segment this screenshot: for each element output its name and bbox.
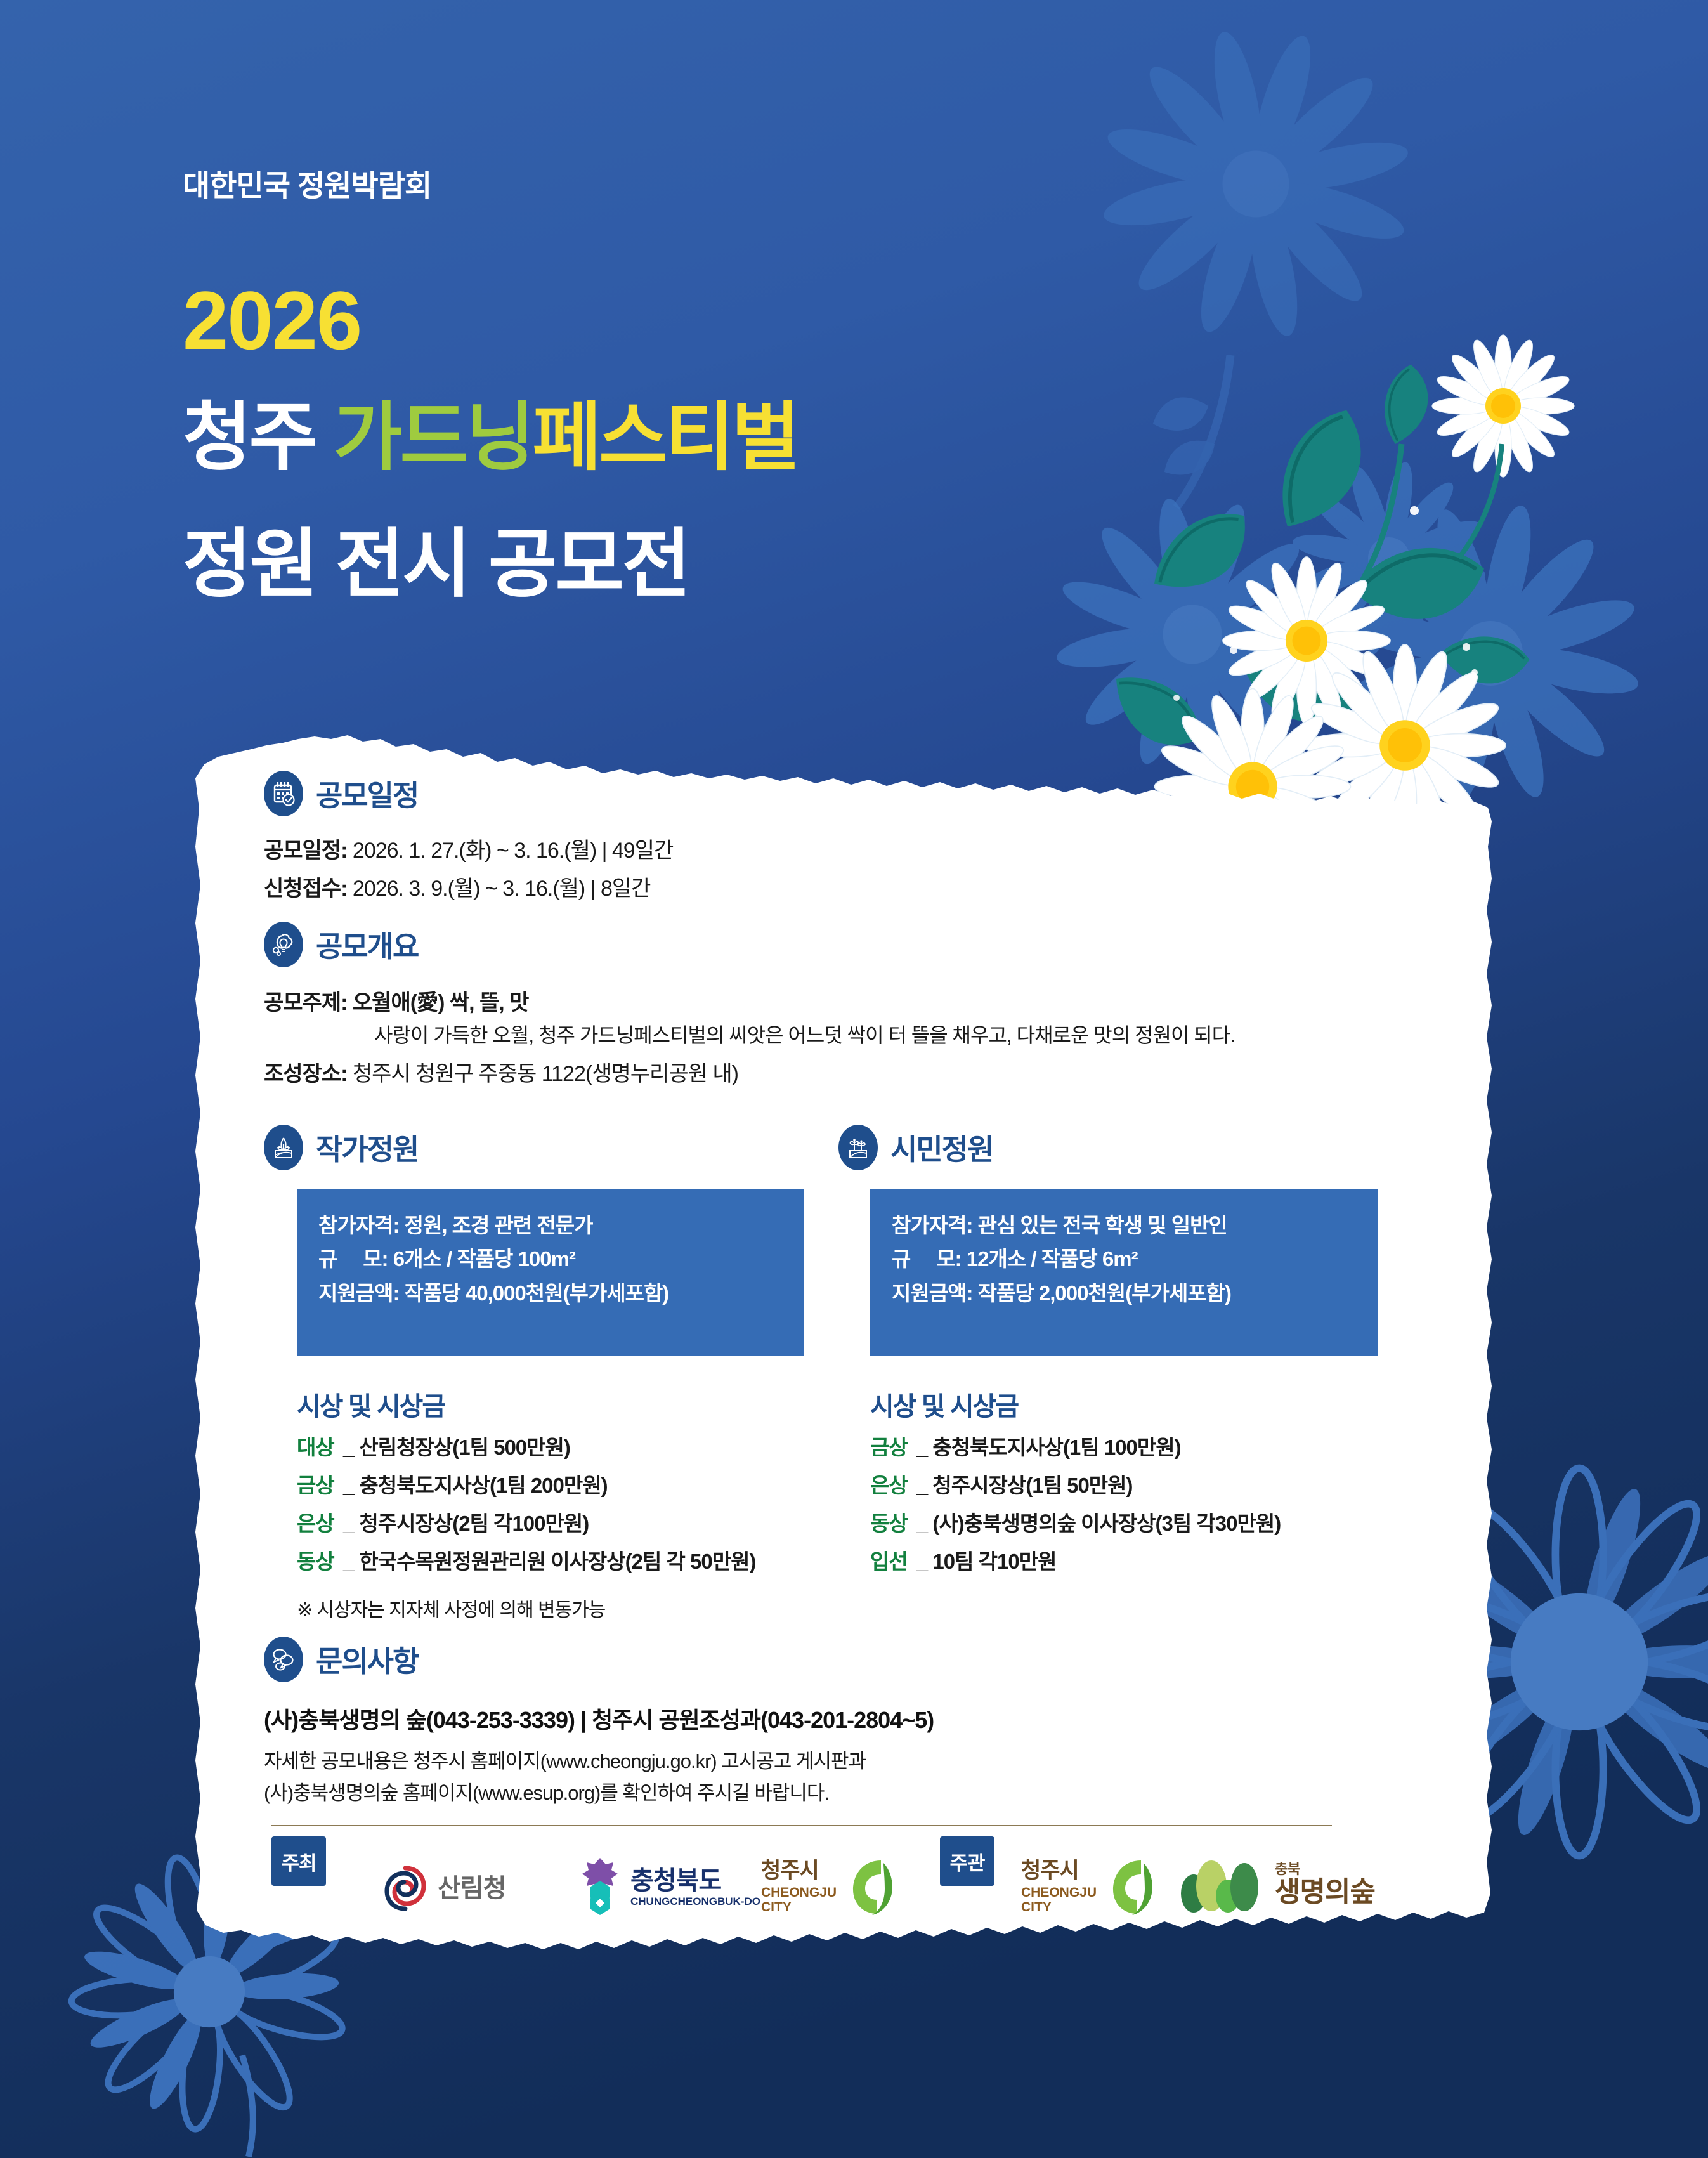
- section-inquiry-header: 문의사항: [264, 1637, 418, 1682]
- logo-chungbuk-life-forest: 충북 생명의숲: [1180, 1857, 1375, 1913]
- overview-place-value: 청주시 청원구 주중동 1122(생명누리공원 내): [353, 1062, 738, 1086]
- citizen-info-row-2: 지원금액: 작품당 2,000천원(부가세포함): [892, 1276, 1356, 1310]
- artist-award-3: 동상 _ 한국수목원정원관리원 이사장상(2팀 각 50만원): [297, 1545, 755, 1575]
- artist-info-row-2-label: 지원금액:: [318, 1276, 399, 1310]
- citizen-award-1-rank: 은상: [870, 1474, 908, 1497]
- section-schedule-title: 공모일정: [316, 773, 418, 814]
- logo-forest-service: 산림청: [381, 1862, 505, 1915]
- citizen-award-2-rank: 동상: [870, 1512, 908, 1535]
- artist-info-row-2-value: 작품당 40,000천원(부가세포함): [405, 1281, 669, 1305]
- citizen-info-row-0-label: 참가자격:: [892, 1208, 972, 1242]
- artist-info-row-0-value: 정원, 조경 관련 전문가: [405, 1213, 593, 1237]
- two-sprouts-icon: [838, 1125, 878, 1170]
- logo-cheongju-city-organizer: 청주시 CHEONGJUCITY: [1021, 1855, 1159, 1919]
- artist-award-2-rank: 은상: [297, 1512, 334, 1535]
- logo-chungcheongbuk-do: 충청북도 CHUNGCHEONGBUK-DO: [577, 1855, 760, 1919]
- artist-info-row-1-label: 규 모:: [318, 1242, 388, 1276]
- organizer-tag: 주관: [940, 1836, 994, 1886]
- cheongju-city-organizer-label: 청주시 CHEONGJUCITY: [1021, 1860, 1097, 1914]
- artist-award-3-text: _ 한국수목원정원관리원 이사장상(2팀 각 50만원): [343, 1550, 756, 1573]
- artist-info-row-1-value: 6개소 / 작품당 100m²: [393, 1247, 575, 1271]
- overview-theme-value: 오월애(愛) 싹, 뜰, 맛: [353, 991, 529, 1015]
- forest-service-emblem-icon: [381, 1862, 430, 1915]
- inquiry-note-line-1: 자세한 공모내용은 청주시 홈페이지(www.cheongju.go.kr) 고…: [264, 1746, 866, 1777]
- citizen-award-3-rank: 입선: [870, 1550, 908, 1573]
- schedule-row-0: 공모일정: 2026. 1. 27.(화) ~ 3. 16.(월) | 49일간: [264, 833, 673, 864]
- artist-award-1-rank: 금상: [297, 1474, 334, 1497]
- title-city: 청주: [183, 396, 334, 480]
- citizen-info-row-0: 참가자격: 관심 있는 전국 학생 및 일반인: [892, 1208, 1356, 1242]
- citizen-info-row-1-label: 규 모:: [892, 1242, 962, 1276]
- citizen-info-row-2-value: 작품당 2,000천원(부가세포함): [978, 1281, 1231, 1305]
- chungcheongbuk-do-label: 충청북도 CHUNGCHEONGBUK-DO: [630, 1867, 760, 1907]
- schedule-row-0-label: 공모일정:: [264, 839, 347, 863]
- artist-award-2: 은상 _ 청주시장상(2팀 각100만원): [297, 1507, 589, 1537]
- schedule-row-0-value: 2026. 1. 27.(화) ~ 3. 16.(월) | 49일간: [353, 839, 673, 863]
- citizen-award-0-text: _ 충청북도지사상(1팀 100만원): [916, 1435, 1181, 1459]
- citizen-award-1: 은상 _ 청주시장상(1팀 50만원): [870, 1468, 1133, 1499]
- inquiry-contacts: (사)충북생명의 숲(043-253-3339) | 청주시 공원조성과(043…: [264, 1702, 934, 1735]
- section-artist-garden-header: 작가정원: [264, 1125, 418, 1170]
- section-citizen-garden-title: 시민정원: [890, 1127, 993, 1168]
- citizen-award-0-rank: 금상: [870, 1435, 908, 1459]
- schedule-row-1-label: 신청접수:: [264, 877, 347, 901]
- artist-award-2-text: _ 청주시장상(2팀 각100만원): [343, 1512, 589, 1535]
- artist-award-1: 금상 _ 충청북도지사상(1팀 200만원): [297, 1468, 608, 1499]
- overview-theme: 공모주제: 오월애(愛) 싹, 뜰, 맛: [264, 985, 528, 1016]
- section-artist-garden-title: 작가정원: [316, 1127, 418, 1168]
- artist-award-1-text: _ 충청북도지사상(1팀 200만원): [343, 1474, 608, 1497]
- section-citizen-garden-header: 시민정원: [838, 1125, 993, 1170]
- citizen-info-row-0-value: 관심 있는 전국 학생 및 일반인: [978, 1213, 1227, 1237]
- subtitle-competition: 정원 전시 공모전: [183, 526, 689, 603]
- section-inquiry-title: 문의사항: [316, 1638, 418, 1680]
- citizen-award-3-text: _ 10팀 각10만원: [916, 1550, 1057, 1573]
- page-kicker: 대한민국 정원박람회: [183, 161, 431, 205]
- schedule-row-1-value: 2026. 3. 9.(월) ~ 3. 16.(월) | 8일간: [353, 877, 651, 901]
- cheongju-city-host-label: 청주시 CHEONGJUCITY: [761, 1860, 837, 1914]
- citizen-awards-title: 시상 및 시상금: [870, 1385, 1018, 1423]
- artist-award-0-text: _ 산림청장상(1팀 500만원): [343, 1435, 570, 1459]
- artist-info-row-2: 지원금액: 작품당 40,000천원(부가세포함): [318, 1276, 783, 1310]
- artist-award-0-rank: 대상: [297, 1435, 334, 1459]
- overview-place-label: 조성장소:: [264, 1062, 347, 1086]
- teal-leaves-cluster: [1099, 363, 1532, 759]
- poster-canvas: 대한민국 정원박람회 2026 청주 가드닝페스티벌 정원 전시 공모전: [0, 0, 1708, 2158]
- calendar-check-icon: [264, 771, 303, 816]
- citizen-award-1-text: _ 청주시장상(1팀 50만원): [916, 1474, 1133, 1497]
- question-bubbles-icon: [264, 1637, 303, 1682]
- citizen-award-2-text: _ (사)충북생명의숲 이사장상(3팀 각30만원): [916, 1512, 1281, 1535]
- artist-awards-note: ※ 시상자는 지자체 사정에 의해 변동가능: [297, 1594, 605, 1622]
- cheongju-city-emblem-icon-2: [1104, 1855, 1159, 1919]
- section-schedule-header: 공모일정: [264, 771, 418, 816]
- citizen-garden-info-box: 참가자격: 관심 있는 전국 학생 및 일반인 규 모: 12개소 / 작품당 …: [870, 1189, 1378, 1356]
- sprout-garden-icon: [264, 1125, 303, 1170]
- section-overview-header: 공모개요: [264, 922, 418, 967]
- overview-place: 조성장소: 청주시 청원구 주중동 1122(생명누리공원 내): [264, 1056, 738, 1087]
- cheongju-city-emblem-icon: [844, 1855, 899, 1919]
- life-forest-emblem-icon: [1180, 1857, 1261, 1913]
- artist-info-row-0-label: 참가자격:: [318, 1208, 399, 1242]
- footer-divider: [271, 1825, 1332, 1826]
- citizen-award-0: 금상 _ 충청북도지사상(1팀 100만원): [870, 1430, 1181, 1461]
- artist-info-row-0: 참가자격: 정원, 조경 관련 전문가: [318, 1208, 783, 1242]
- citizen-info-row-2-label: 지원금액:: [892, 1276, 972, 1310]
- lightbulb-idea-icon: [264, 922, 303, 967]
- schedule-row-1: 신청접수: 2026. 3. 9.(월) ~ 3. 16.(월) | 8일간: [264, 871, 650, 902]
- artist-info-row-1: 규 모: 6개소 / 작품당 100m²: [318, 1242, 783, 1276]
- chungcheongbuk-do-emblem-icon: [577, 1855, 623, 1919]
- life-forest-label: 충북 생명의숲: [1275, 1862, 1375, 1907]
- festival-title: 청주 가드닝페스티벌: [183, 400, 798, 476]
- year-title: 2026: [183, 279, 361, 362]
- inquiry-note-line-2: (사)충북생명의숲 홈페이지(www.esup.org)를 확인하여 주시길 바…: [264, 1778, 829, 1808]
- artist-awards-title: 시상 및 시상금: [297, 1385, 445, 1423]
- content-panel: 공모일정 공모일정: 2026. 1. 27.(화) ~ 3. 16.(월) |…: [190, 720, 1497, 1951]
- artist-garden-info-box: 참가자격: 정원, 조경 관련 전문가 규 모: 6개소 / 작품당 100m²…: [297, 1189, 804, 1356]
- section-overview-title: 공모개요: [316, 924, 418, 965]
- overview-theme-label: 공모주제:: [264, 991, 347, 1015]
- artist-award-0: 대상 _ 산림청장상(1팀 500만원): [297, 1430, 570, 1461]
- forest-service-label: 산림청: [438, 1875, 505, 1902]
- artist-award-3-rank: 동상: [297, 1550, 334, 1573]
- logo-cheongju-city-host: 청주시 CHEONGJUCITY: [761, 1855, 899, 1919]
- bg-flower-silhouette: [1060, 0, 1451, 507]
- overview-theme-desc: 사랑이 가득한 오월, 청주 가드닝페스티벌의 씨앗은 어느덧 싹이 터 뜰을 …: [374, 1019, 1235, 1049]
- citizen-info-row-1: 규 모: 12개소 / 작품당 6m²: [892, 1242, 1356, 1276]
- citizen-info-row-1-value: 12개소 / 작품당 6m²: [967, 1247, 1138, 1271]
- citizen-award-3: 입선 _ 10팀 각10만원: [870, 1545, 1056, 1575]
- host-tag: 주최: [271, 1836, 326, 1886]
- title-festival: 페스티벌: [533, 396, 798, 480]
- title-gardening: 가드닝: [334, 396, 533, 480]
- citizen-award-2: 동상 _ (사)충북생명의숲 이사장상(3팀 각30만원): [870, 1507, 1281, 1537]
